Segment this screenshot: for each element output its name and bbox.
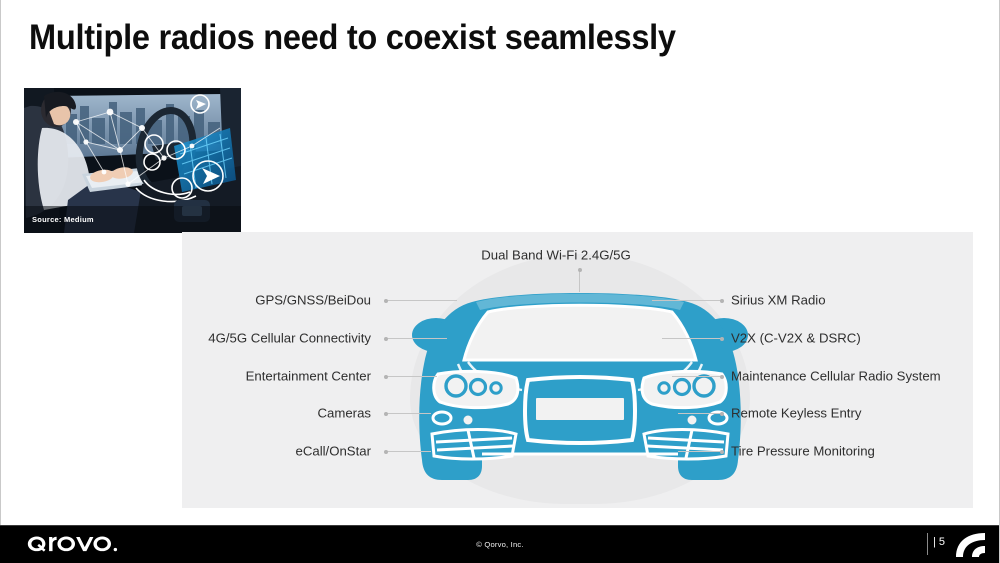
connector-left-4 xyxy=(385,413,431,414)
label-gps-gnss-beidou: GPS/GNSS/BeiDou xyxy=(255,293,371,306)
page-divider xyxy=(927,533,928,555)
connector-right-1 xyxy=(652,300,722,301)
connector-dot-top xyxy=(578,268,582,272)
connector-left-3 xyxy=(385,376,437,377)
page-number: | 5 xyxy=(933,536,945,548)
connector-dot-right-4 xyxy=(720,412,724,416)
connector-left-1 xyxy=(385,300,457,301)
connector-dot-left-2 xyxy=(384,337,388,341)
connector-dot-right-1 xyxy=(720,299,724,303)
connector-dot-right-2 xyxy=(720,337,724,341)
qorvo-swoosh-icon xyxy=(952,531,992,559)
car-illustration xyxy=(412,278,748,500)
label-ecall-onstar: eCall/OnStar xyxy=(296,444,372,457)
connector-dot-left-3 xyxy=(384,375,388,379)
connector-right-2 xyxy=(662,338,722,339)
label-entertainment-center: Entertainment Center xyxy=(246,369,371,382)
connector-dot-right-5 xyxy=(720,450,724,454)
source-photo: Source: Medium xyxy=(24,88,241,233)
connector-dot-left-4 xyxy=(384,412,388,416)
connector-left-2 xyxy=(385,338,447,339)
label-cameras: Cameras xyxy=(318,406,372,419)
label-4g-5g-cellular-connectivity: 4G/5G Cellular Connectivity xyxy=(208,331,371,344)
page-title: Multiple radios need to coexist seamless… xyxy=(29,18,866,58)
slide-footer: © Qorvo, Inc. | 5 xyxy=(0,525,1000,563)
connector-dot-left-1 xyxy=(384,299,388,303)
label-tire-pressure-monitoring: Tire Pressure Monitoring xyxy=(731,444,875,457)
label-sirius-xm-radio: Sirius XM Radio xyxy=(731,293,826,306)
connector-right-3 xyxy=(672,376,722,377)
slide: Multiple radios need to coexist seamless… xyxy=(0,0,1000,563)
photo-source-caption: Source: Medium xyxy=(32,215,94,224)
connector-dot-left-5 xyxy=(384,450,388,454)
label-v2x: V2X (C-V2X & DSRC) xyxy=(731,331,861,344)
connector-right-4 xyxy=(678,413,722,414)
label-dual-band-wifi: Dual Band Wi-Fi 2.4G/5G xyxy=(481,248,631,261)
copyright-text: © Qorvo, Inc. xyxy=(0,525,1000,563)
connector-dot-right-3 xyxy=(720,375,724,379)
label-maintenance-cellular-radio-system: Maintenance Cellular Radio System xyxy=(731,369,941,382)
connector-left-5 xyxy=(385,451,431,452)
label-remote-keyless-entry: Remote Keyless Entry xyxy=(731,406,861,419)
connector-right-5 xyxy=(678,451,722,452)
